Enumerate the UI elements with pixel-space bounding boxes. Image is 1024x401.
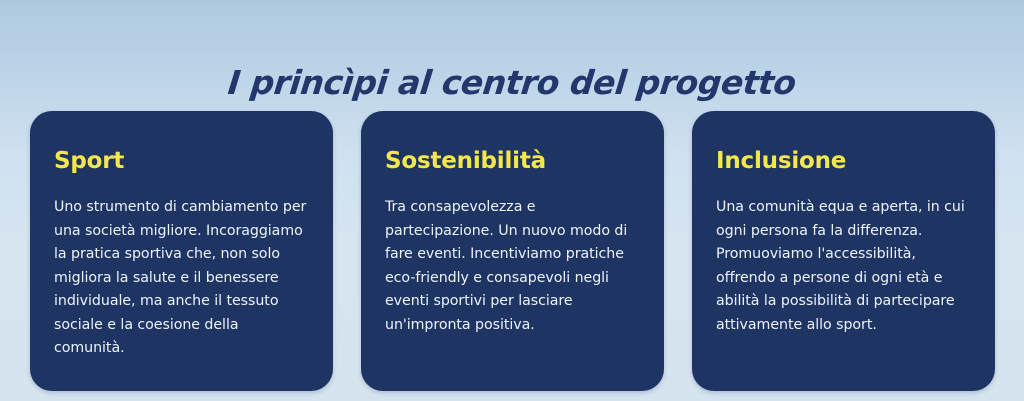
card-body: Una comunità equa e aperta, in cui ogni … xyxy=(716,196,971,337)
card-title: Sport xyxy=(54,149,309,174)
principle-card-inclusione: Inclusione Una comunità equa e aperta, i… xyxy=(692,111,995,391)
section-title: I princìpi al centro del progetto xyxy=(0,63,1024,102)
card-body: Tra consapevolezza e partecipazione. Un … xyxy=(385,196,640,337)
principle-card-sport: Sport Uno strumento di cambiamento per u… xyxy=(30,111,333,391)
card-body: Uno strumento di cambiamento per una soc… xyxy=(54,196,309,361)
card-title: Sostenibilità xyxy=(385,149,640,174)
principle-card-sostenibilita: Sostenibilità Tra consapevolezza e parte… xyxy=(361,111,664,391)
principles-section: I princìpi al centro del progetto Sport … xyxy=(0,0,1024,401)
principles-card-list: Sport Uno strumento di cambiamento per u… xyxy=(30,111,995,391)
card-title: Inclusione xyxy=(716,149,971,174)
